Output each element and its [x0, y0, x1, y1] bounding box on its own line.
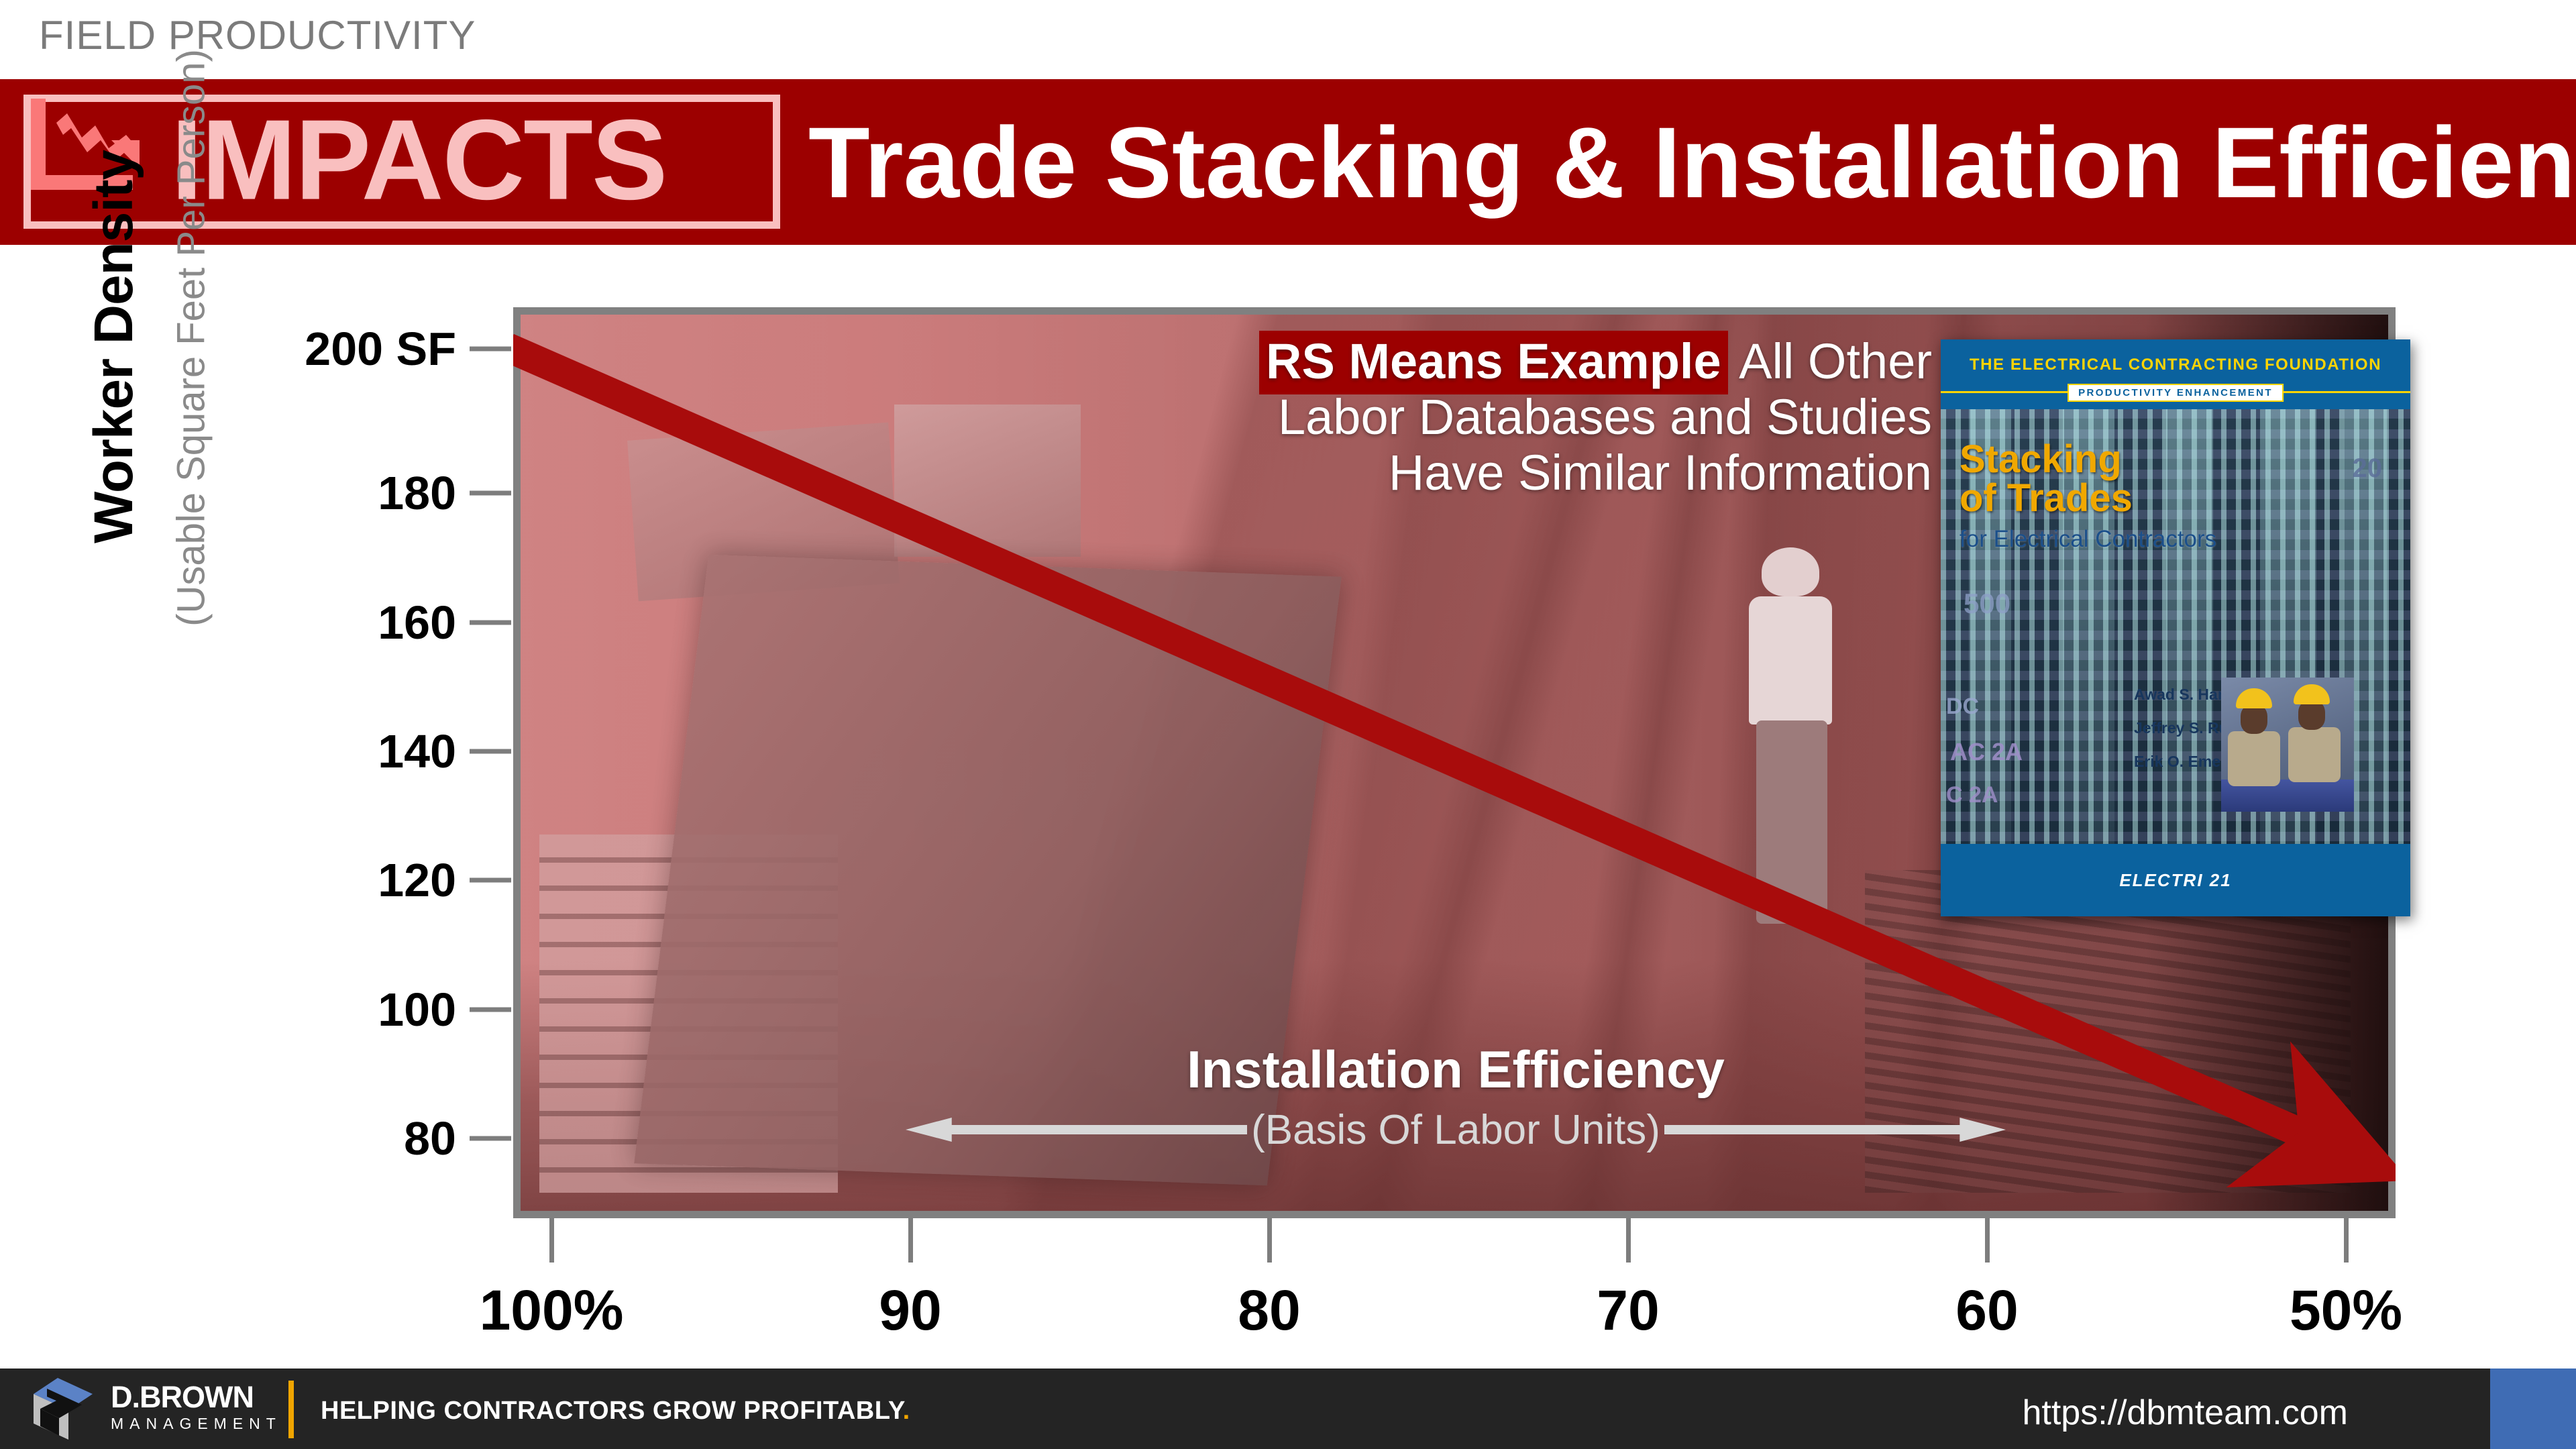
book-art-label-20: 20: [2353, 453, 2383, 484]
inset-worker-face: [2298, 700, 2325, 730]
y-tick-label: 180: [228, 466, 456, 520]
worker-hardhat: [1762, 547, 1819, 596]
book-cover-stacking-of-trades: THE ELECTRICAL CONTRACTING FOUNDATION PR…: [1941, 339, 2410, 916]
y-tick-label: 140: [228, 724, 456, 778]
x-tick-mark: [908, 1218, 913, 1263]
footer-divider: [288, 1381, 294, 1438]
callout-line-3: Have Similar Information: [1046, 445, 1932, 501]
book-cover-inset-photo: [2221, 678, 2354, 812]
y-tick-label: 100: [228, 983, 456, 1036]
x-tick-label: 60: [1955, 1278, 2018, 1343]
y-tick-label: 80: [228, 1112, 456, 1165]
y-tick-mark: [470, 1136, 511, 1141]
footer-tagline: HELPING CONTRACTORS GROW PROFITABLY.: [321, 1397, 910, 1426]
book-title-line2: of Trades: [1960, 479, 2133, 518]
y-tick-mark: [470, 878, 511, 883]
inset-worker-body: [2228, 731, 2280, 786]
y-axis-title: Worker Density: [83, 1, 146, 692]
book-header-band: [1941, 339, 2410, 419]
footer-brand-line1: D.BROWN: [111, 1382, 282, 1412]
callout-highlight: RS Means Example: [1259, 331, 1728, 394]
footer-brand-line2: MANAGEMENT: [111, 1412, 282, 1436]
y-tick-mark: [470, 491, 511, 496]
x-tick-mark: [549, 1218, 554, 1263]
x-tick-label: 50%: [2290, 1278, 2402, 1343]
footer-accent-block: [2490, 1368, 2576, 1449]
y-axis-subtitle: (Usable Square Feet Per Person): [169, 0, 214, 684]
y-tick-label: 120: [228, 853, 456, 907]
callout-line1-rest: All Other: [1728, 333, 1932, 389]
inset-worker-hardhat: [2294, 684, 2330, 704]
book-title-line1: Stacking: [1960, 440, 2122, 479]
y-tick-label: 160: [228, 596, 456, 649]
y-tick-mark: [470, 347, 511, 352]
x-tick-label: 80: [1238, 1278, 1300, 1343]
x-tick-mark: [1626, 1218, 1631, 1263]
x-tick-label: 100%: [480, 1278, 624, 1343]
x-tick-label: 90: [879, 1278, 941, 1343]
photo-worker: [1725, 547, 1856, 924]
book-art-label-ac1: AC 2A: [1950, 738, 2023, 766]
worker-legs: [1756, 720, 1827, 924]
y-tick-label: 200 SF: [228, 322, 456, 376]
book-art-label-ac2: C 2A: [1946, 782, 1998, 808]
x-tick-label: 70: [1597, 1278, 1659, 1343]
worker-torso: [1749, 596, 1833, 724]
footer-bar: D.BROWN MANAGEMENT HELPING CONTRACTORS G…: [0, 1368, 2576, 1449]
footer-brand: D.BROWN MANAGEMENT: [111, 1382, 282, 1436]
book-series-label: PRODUCTIVITY ENHANCEMENT: [2068, 384, 2284, 402]
inset-worker-hardhat: [2236, 688, 2272, 708]
artwork-column: [2166, 409, 2213, 844]
y-tick-mark: [470, 621, 511, 625]
inset-worker-face: [2241, 704, 2267, 734]
callout-line-1: RS Means Example All Other: [1046, 334, 1932, 390]
book-publisher: THE ELECTRICAL CONTRACTING FOUNDATION: [1941, 356, 2410, 374]
y-axis-tick-labels: 200 SF 180 160 140 120 100 80: [228, 0, 456, 1449]
dbrown-logo-icon: [27, 1377, 101, 1441]
y-tick-mark: [470, 1008, 511, 1012]
x-tick-mark: [2344, 1218, 2349, 1263]
callout-text-block: RS Means Example All Other Labor Databas…: [1046, 334, 1932, 501]
x-tick-mark: [1267, 1218, 1272, 1263]
inset-worker-body: [2288, 727, 2341, 782]
photo-drywall-panel: [634, 555, 1341, 1186]
x-tick-mark: [1985, 1218, 1990, 1263]
book-art-label-500: 500: [1964, 588, 2010, 620]
footer-url[interactable]: https://dbmteam.com: [2022, 1393, 2348, 1433]
callout-line-2: Labor Databases and Studies: [1046, 390, 1932, 445]
book-brand-electri21: ELECTRI 21: [1941, 870, 2410, 891]
footer-tagline-text: HELPING CONTRACTORS GROW PROFITABLY: [321, 1397, 903, 1425]
footer-tagline-dot: .: [903, 1397, 910, 1425]
page-title: Trade Stacking & Installation Efficiency: [808, 112, 2576, 213]
book-art-label-dc: DC: [1946, 694, 1979, 720]
book-subtitle: for Electrical Contractors: [1960, 526, 2216, 553]
y-tick-mark: [470, 749, 511, 754]
